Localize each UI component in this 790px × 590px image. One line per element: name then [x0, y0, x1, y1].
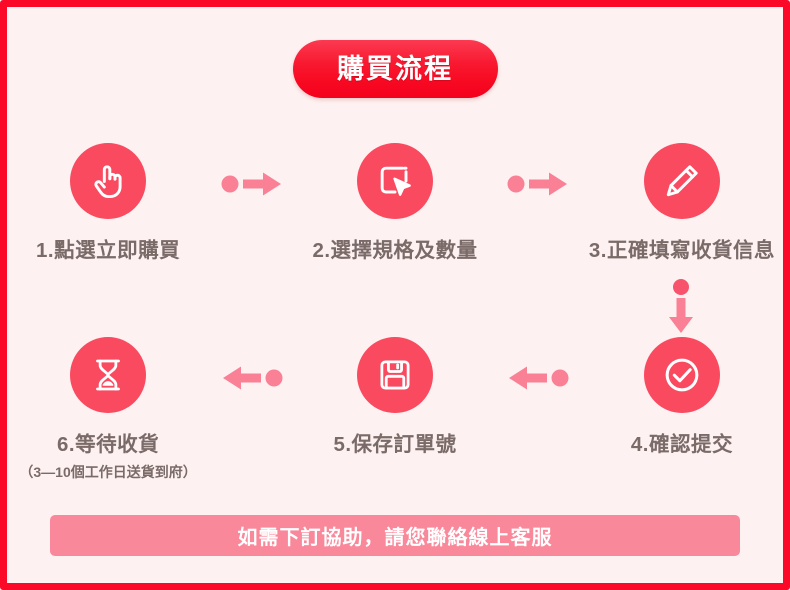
title-pill: 購買流程	[293, 40, 498, 98]
step-2-choose-spec-qty: 2.選擇規格及數量	[294, 143, 496, 263]
step-2-icon-circle	[357, 143, 433, 219]
floppy-disk-save-icon	[374, 354, 416, 396]
arrow-down-icon	[664, 279, 698, 342]
step-4-label: 4.確認提交	[631, 427, 733, 457]
step-4-confirm-submit: 4.確認提交	[581, 337, 783, 457]
check-circle-icon	[659, 352, 705, 398]
page-title: 購買流程	[337, 56, 453, 83]
step-3-fill-delivery-info: 3.正確填寫收貨信息	[581, 143, 783, 263]
step-3-label: 3.正確填寫收貨信息	[589, 233, 775, 263]
step-6-sublabel: （3—10個工作日送貨到府）	[19, 462, 196, 482]
step-1-icon-circle	[70, 143, 146, 219]
purchase-flow-poster: 購買流程 1.點選立即購買	[0, 0, 790, 590]
connector-step3-to-step4	[7, 279, 783, 342]
arrow-right-icon	[221, 169, 283, 199]
hourglass-icon	[87, 354, 129, 396]
arrow-right-icon	[507, 169, 569, 199]
step-6-wait-for-delivery: 6.等待收貨 （3—10個工作日送貨到府）	[7, 337, 209, 482]
pencil-edit-icon	[660, 159, 704, 203]
support-banner-text: 如需下訂協助，請您聯絡線上客服	[238, 521, 553, 550]
step-1-label: 1.點選立即購買	[36, 233, 180, 263]
steps-row-top: 1.點選立即購買	[7, 143, 783, 263]
step-3-icon-circle	[644, 143, 720, 219]
step-6-label: 6.等待收貨	[57, 427, 159, 457]
step-4-icon-circle	[644, 337, 720, 413]
step-2-label: 2.選擇規格及數量	[312, 233, 477, 263]
support-banner[interactable]: 如需下訂協助，請您聯絡線上客服	[50, 515, 740, 556]
connector-step1-to-step2	[209, 143, 294, 199]
hand-pointer-icon	[86, 159, 130, 203]
title-banner: 購買流程	[7, 40, 783, 98]
connector-step4-to-step5	[496, 337, 581, 393]
cursor-select-icon	[373, 159, 417, 203]
arrow-left-icon	[507, 363, 569, 393]
step-6-icon-circle	[70, 337, 146, 413]
steps-row-bottom: 6.等待收貨 （3—10個工作日送貨到府）	[7, 337, 783, 482]
step-5-icon-circle	[357, 337, 433, 413]
connector-step5-to-step6	[209, 337, 294, 393]
connector-step2-to-step3	[496, 143, 581, 199]
step-5-save-order-number: 5.保存訂單號	[294, 337, 496, 457]
arrow-left-icon	[221, 363, 283, 393]
step-1-point-and-buy: 1.點選立即購買	[7, 143, 209, 263]
step-5-label: 5.保存訂單號	[333, 427, 456, 457]
